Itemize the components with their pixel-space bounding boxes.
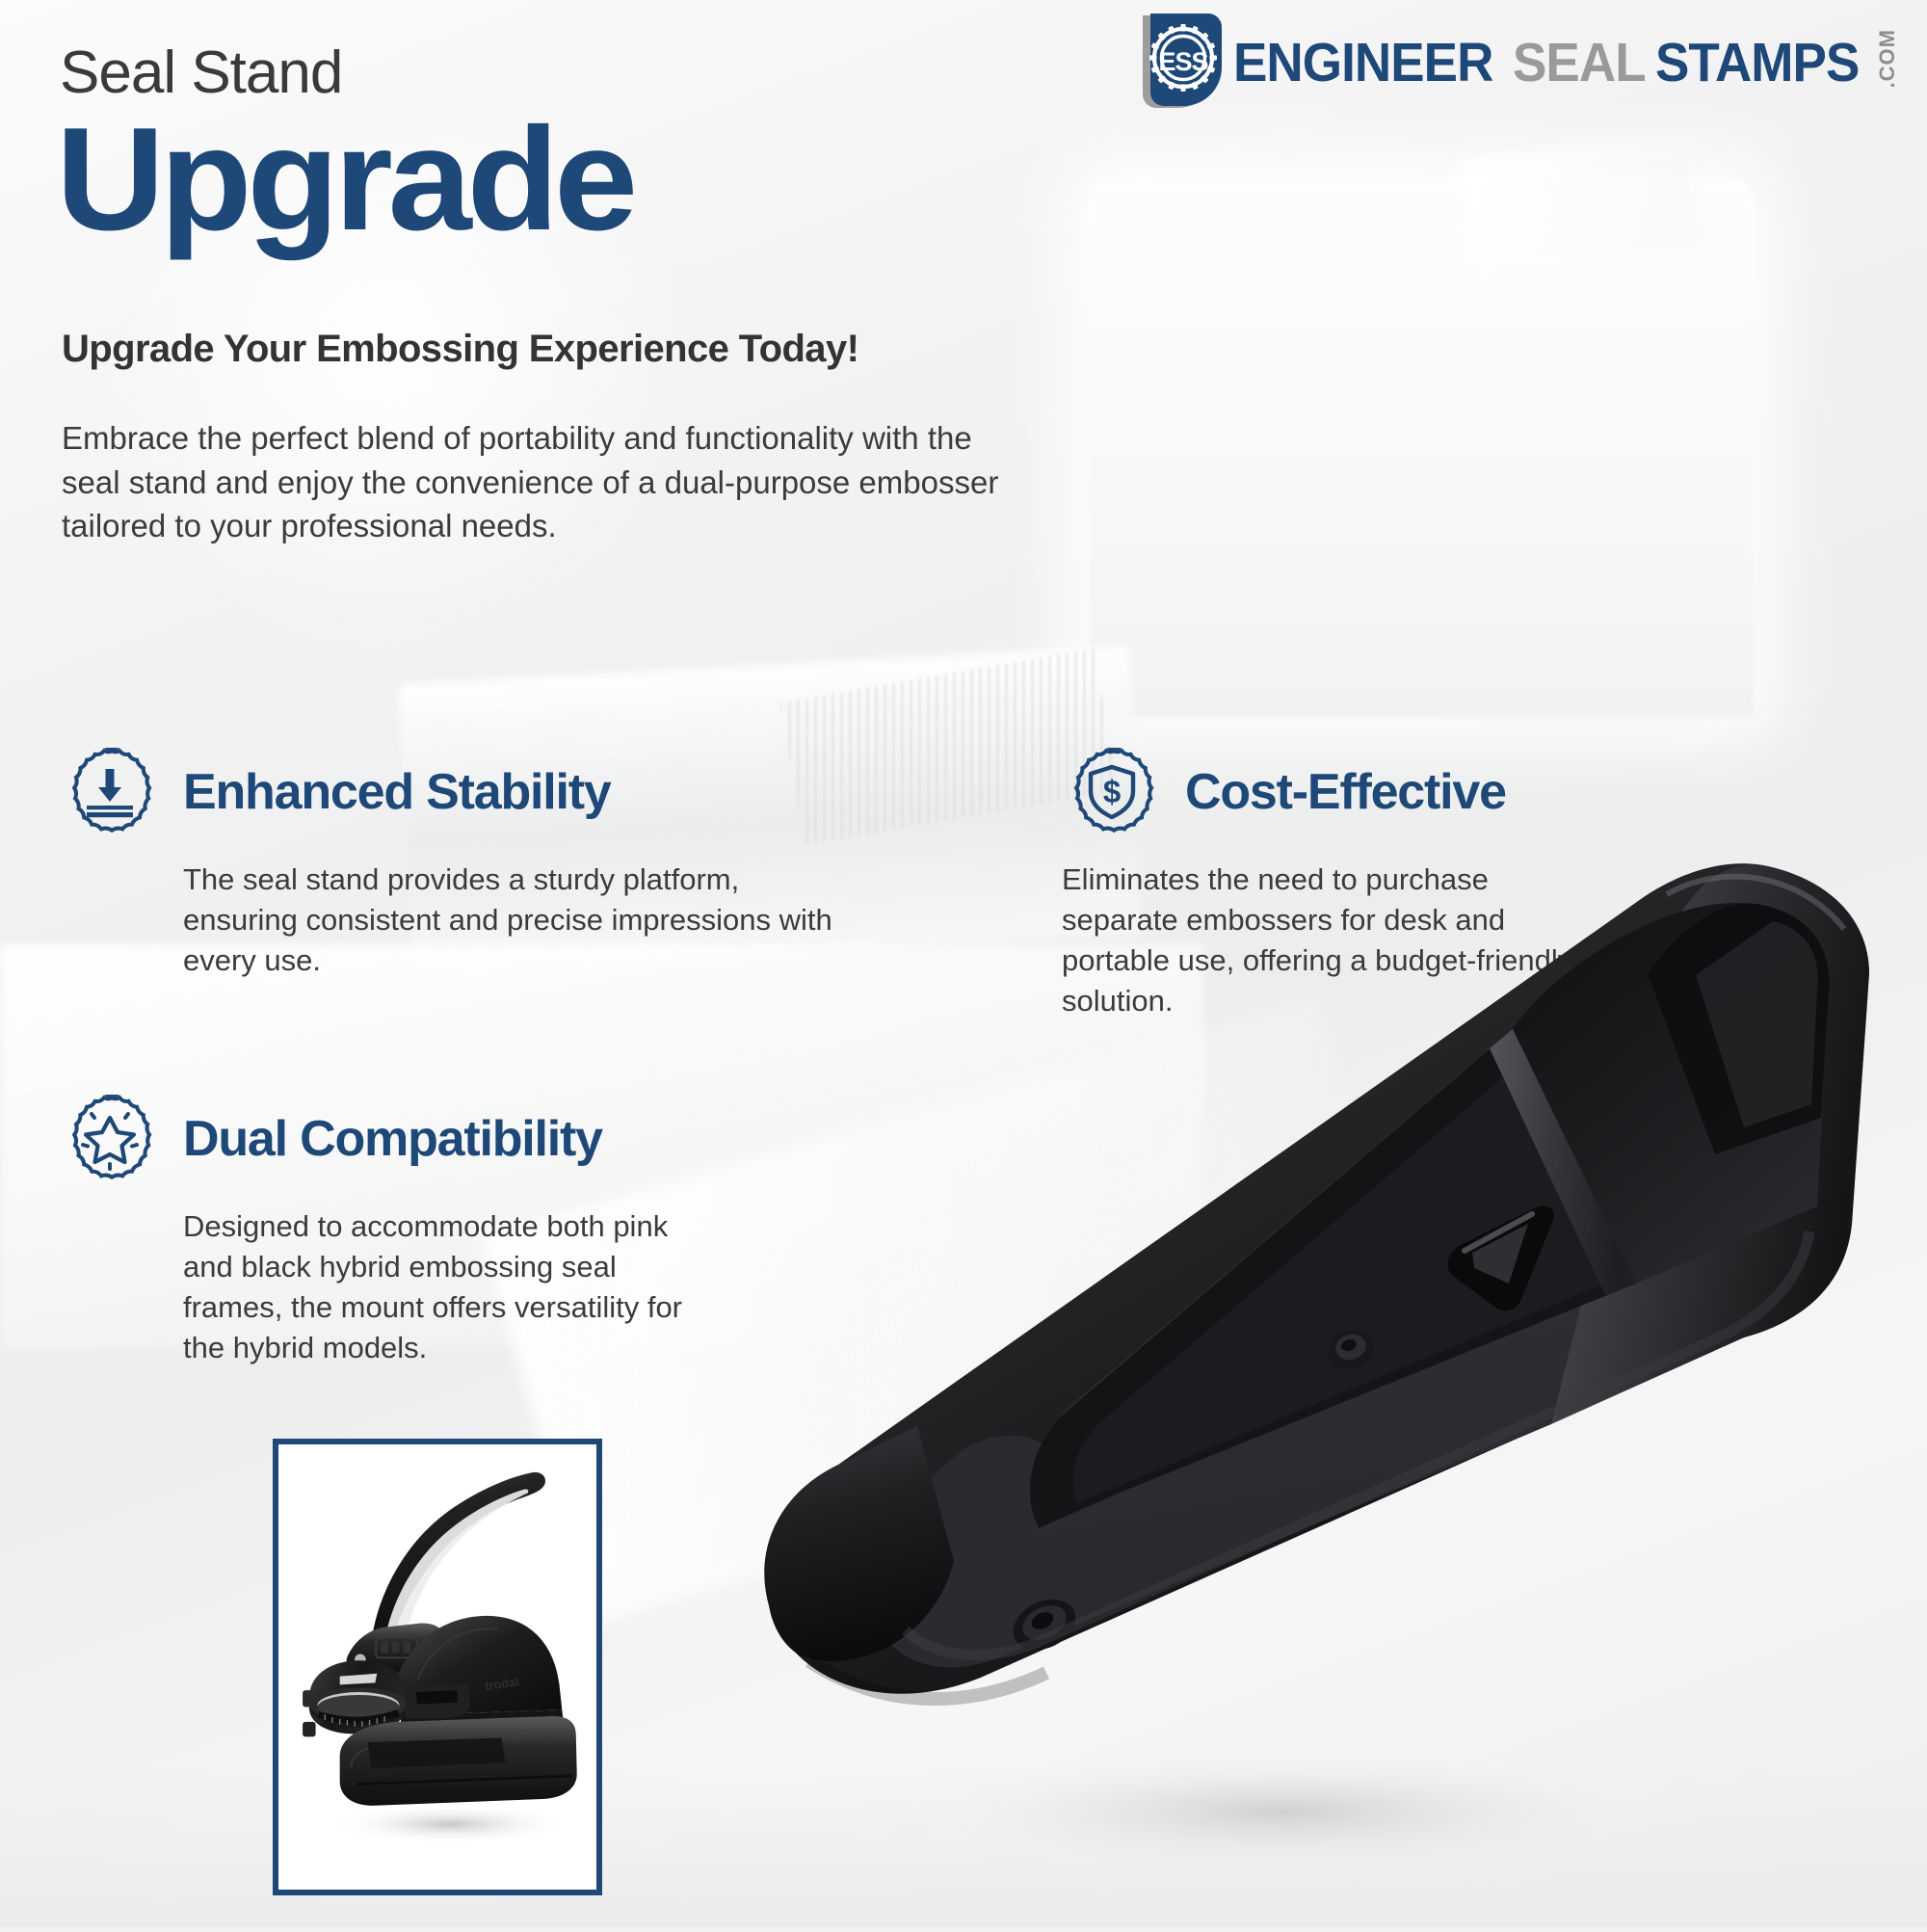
feature-body: Designed to accommodate both pink and bl…: [183, 1206, 703, 1369]
wordmark-tld: .COM: [1877, 29, 1898, 88]
feature-dual-compatibility: Dual Compatibility Designed to accommoda…: [60, 1089, 734, 1369]
ess-shield-gear-logo-icon: ESS: [1129, 10, 1229, 110]
embosser-mounted-on-seal-stand-photo: trodat: [278, 1444, 596, 1890]
svg-text:ESS: ESS: [1158, 47, 1207, 76]
feature-title: Cost-Effective: [1185, 763, 1506, 821]
black-seal-stand-base-photo: [665, 829, 1927, 1927]
wordmark-seal: SEAL: [1513, 36, 1646, 91]
wordmark-stamps: STAMPS: [1655, 36, 1859, 91]
wordmark-engineer: ENGINEER: [1233, 36, 1492, 91]
feature-title: Dual Compatibility: [183, 1110, 602, 1168]
brand-logo[interactable]: ESS ENGINEER SEAL STAMPS .COM: [1129, 10, 1898, 110]
embosser-on-stand-photo-frame[interactable]: trodat: [273, 1439, 602, 1895]
page-intro-text: Embrace the perfect blend of portability…: [62, 416, 1035, 548]
shield-dollar-badge-icon: $: [1062, 742, 1162, 842]
page-title: Upgrade: [56, 106, 633, 252]
infographic-page: ESS ENGINEER SEAL STAMPS .COM Seal Stand…: [0, 0, 1927, 1927]
star-sparkle-badge-icon: [60, 1089, 160, 1189]
svg-text:$: $: [1103, 774, 1121, 809]
feature-title: Enhanced Stability: [183, 763, 611, 821]
page-subheading: Upgrade Your Embossing Experience Today!: [62, 328, 858, 371]
press-down-arrow-badge-icon: [60, 742, 160, 842]
